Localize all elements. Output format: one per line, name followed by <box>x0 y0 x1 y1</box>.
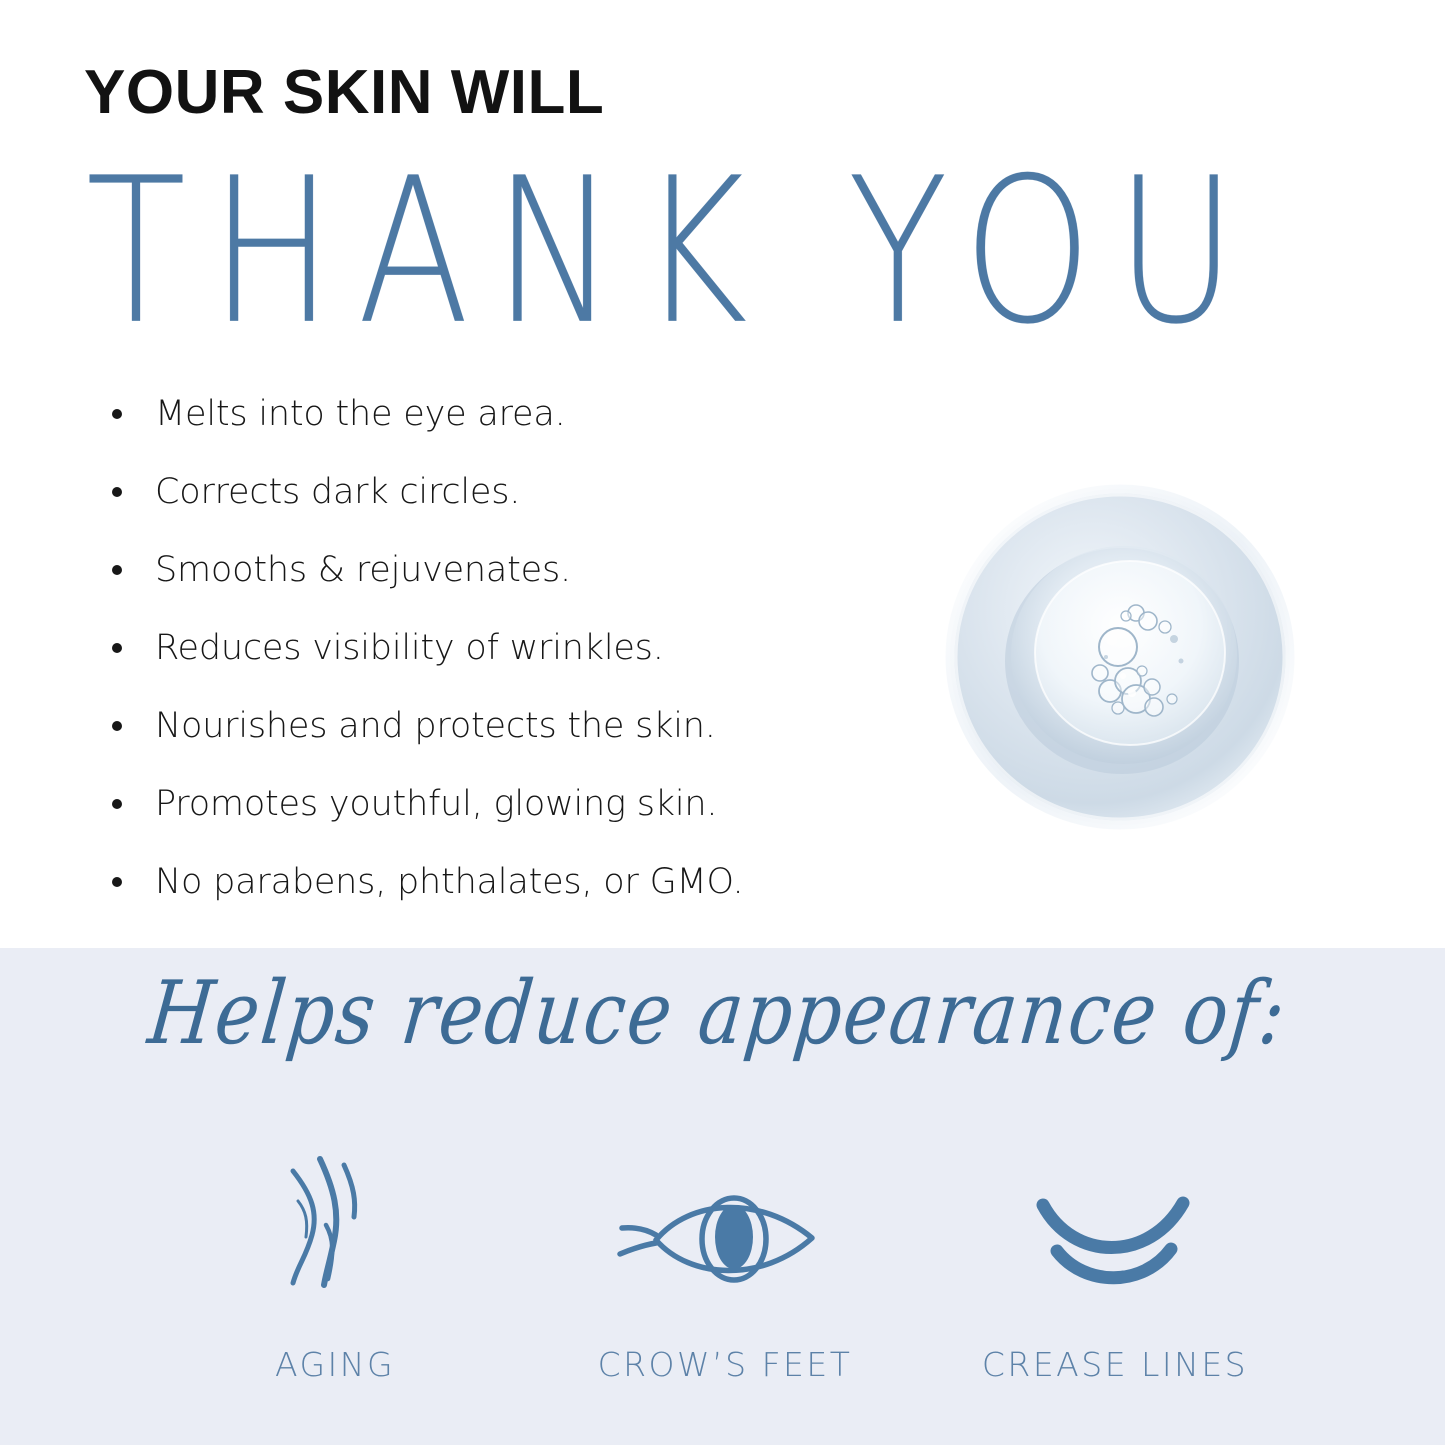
benefits-section: YOUR SKIN WILL THANK YOU Melts into the … <box>0 0 1445 948</box>
crease-arcs-icon <box>1015 1183 1215 1293</box>
eye-crows-feet-icon <box>610 1183 840 1293</box>
benefit-icon-crease-lines: CREASE LINES <box>950 1153 1280 1384</box>
wrinkle-lines-icon <box>260 1153 410 1293</box>
gel-droplet-swatch <box>940 475 1300 835</box>
icon-label-crease-lines: CREASE LINES <box>982 1345 1248 1384</box>
page-title: THANK YOU <box>86 152 1260 353</box>
icon-label-crows-feet: CROW’S FEET <box>598 1345 853 1384</box>
reduce-appearance-section: Helps reduce appearance of: AG <box>0 948 1445 1445</box>
benefit-icon-row: AGING <box>170 1153 1280 1384</box>
list-item: Nourishes and protects the skin. <box>100 687 890 765</box>
list-item: Reduces visibility of wrinkles. <box>100 609 890 687</box>
list-item: Smooths & rejuvenates. <box>100 531 890 609</box>
headline-kicker: YOUR SKIN WILL <box>84 62 604 124</box>
list-item: Corrects dark circles. <box>100 453 890 531</box>
benefit-icon-aging: AGING <box>170 1153 500 1384</box>
gel-droplet-icon <box>940 475 1300 835</box>
benefit-icon-crows-feet: CROW’S FEET <box>560 1153 890 1384</box>
list-item: Melts into the eye area. <box>100 375 890 453</box>
icon-art-crows-feet <box>610 1153 840 1293</box>
list-item: Promotes youthful, glowing skin. <box>100 765 890 843</box>
benefits-list: Melts into the eye area. Corrects dark c… <box>100 375 890 921</box>
infographic-canvas: YOUR SKIN WILL THANK YOU Melts into the … <box>0 0 1445 1445</box>
section-heading: Helps reduce appearance of: <box>0 970 1445 1057</box>
icon-art-crease-lines <box>1015 1153 1215 1293</box>
icon-art-aging <box>260 1153 410 1293</box>
list-item: No parabens, phthalates, or GMO. <box>100 843 890 921</box>
icon-label-aging: AGING <box>275 1345 395 1384</box>
